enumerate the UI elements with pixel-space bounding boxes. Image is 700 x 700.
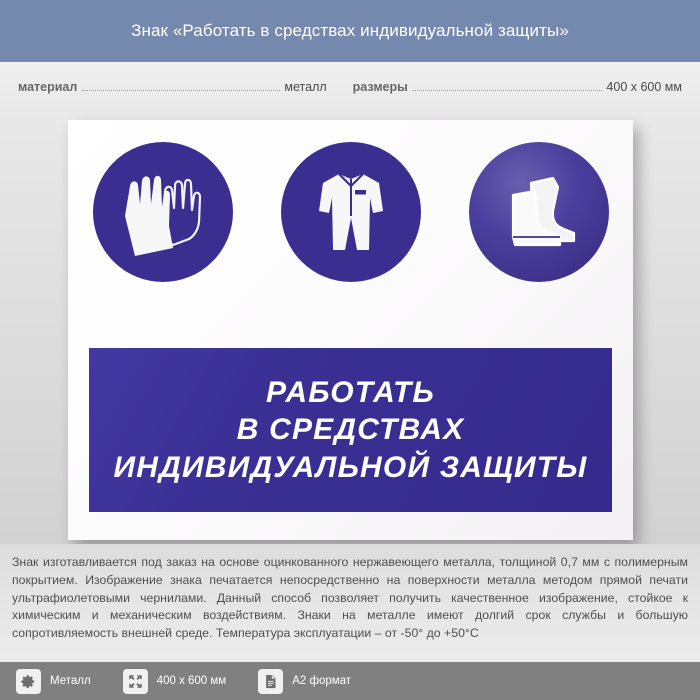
spec-size: размеры 400 x 600 мм — [353, 80, 682, 94]
spec-strip: материал металл размеры 400 x 600 мм — [0, 62, 700, 112]
footer-chip-size-label: 400 x 600 мм — [157, 675, 227, 687]
protective-coverall-icon — [281, 142, 421, 282]
page-title: Знак «Работать в средствах индивидуально… — [131, 21, 569, 41]
footer-bar: Металл 400 x 600 мм — [0, 662, 700, 700]
protective-gloves-icon — [93, 142, 233, 282]
footer-chip-material-label: Металл — [50, 675, 91, 687]
footer-chip-material: Металл — [16, 669, 91, 694]
pictogram-row — [68, 142, 633, 282]
footer-chip-size: 400 x 600 мм — [123, 669, 227, 694]
footer-chip-format: A2 формат — [258, 669, 351, 694]
document-icon — [258, 669, 283, 694]
safety-sign-panel: РАБОТАТЬ В СРЕДСТВАХ ИНДИВИДУАЛЬНОЙ ЗАЩИ… — [68, 120, 633, 540]
protective-footwear-icon — [469, 142, 609, 282]
description-text: Знак изготавливается под заказ на основе… — [12, 554, 688, 643]
banner-line-2: В СРЕДСТВАХ — [237, 414, 465, 446]
description-block: Знак изготавливается под заказ на основе… — [0, 544, 700, 662]
sign-preview-stage: РАБОТАТЬ В СРЕДСТВАХ ИНДИВИДУАЛЬНОЙ ЗАЩИ… — [0, 112, 700, 544]
banner-line-1: РАБОТАТЬ — [266, 377, 435, 409]
resize-arrows-icon — [123, 669, 148, 694]
banner-line-3: ИНДИВИДУАЛЬНОЙ ЗАЩИТЫ — [114, 452, 588, 484]
spec-size-dots — [413, 90, 603, 91]
spec-material-value: металл — [284, 80, 326, 94]
page-header: Знак «Работать в средствах индивидуально… — [0, 0, 700, 62]
gear-icon — [16, 669, 41, 694]
footer-chip-format-label: A2 формат — [292, 675, 351, 687]
spec-material: материал металл — [18, 80, 327, 94]
spec-material-label: материал — [18, 80, 77, 94]
spec-size-label: размеры — [353, 80, 408, 94]
spec-size-value: 400 x 600 мм — [606, 80, 682, 94]
spec-material-dots — [82, 90, 280, 91]
sign-text-banner: РАБОТАТЬ В СРЕДСТВАХ ИНДИВИДУАЛЬНОЙ ЗАЩИ… — [89, 348, 612, 512]
